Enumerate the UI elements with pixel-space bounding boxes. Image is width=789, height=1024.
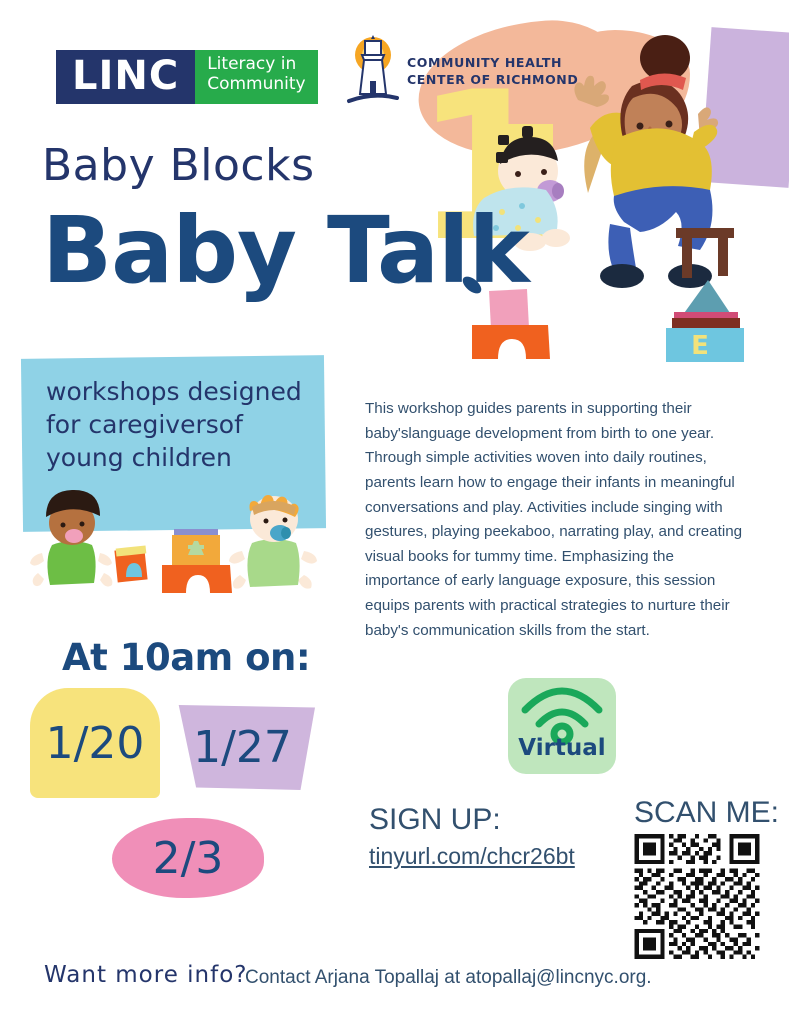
block-small [114, 545, 147, 582]
baby-right-figure [229, 495, 317, 589]
virtual-badge-label: Virtual [508, 735, 616, 761]
sign-up-label: SIGN UP: [369, 803, 501, 837]
page-title: Baby Talk [42, 205, 529, 297]
sign-up-link[interactable]: tinyurl.com/chcr26bt [369, 843, 575, 870]
qr-code-icon[interactable] [629, 834, 765, 959]
babies-illustration [28, 485, 328, 595]
audience-line-1: workshops designed [46, 375, 346, 408]
date-chip-2[interactable]: 1/27 [170, 705, 315, 790]
svg-text:E: E [691, 331, 709, 361]
linc-logo: LINC Literacy in Community [56, 50, 318, 104]
audience-box-text: workshops designed for caregiversof youn… [46, 375, 346, 474]
linc-tagline: Literacy in Community [195, 50, 317, 104]
block-stack [162, 529, 232, 593]
linc-tagline-line1: Literacy in [207, 54, 305, 74]
audience-line-3: young children [46, 441, 346, 474]
toy-blocks-right: E [660, 278, 770, 363]
linc-wordmark: LINC [56, 50, 195, 104]
flyer-poster: 1 LINC Literacy in Community COMMUNITY H… [0, 0, 789, 1024]
time-label: At 10am on: [62, 636, 310, 679]
audience-line-2: for caregiversof [46, 408, 346, 441]
footer-contact: Contact Arjana Topallaj at atopallaj@lin… [245, 967, 652, 989]
adult-figure [574, 35, 734, 288]
date-chip-3[interactable]: 2/3 [112, 818, 264, 898]
series-heading: Baby Blocks [42, 140, 315, 191]
footer-question: Want more info? [44, 962, 248, 988]
date-chip-1[interactable]: 1/20 [30, 688, 160, 798]
scan-me-label: SCAN ME: [634, 796, 779, 830]
lighthouse-icon [345, 33, 401, 111]
baby-left-figure [30, 490, 112, 587]
description-paragraph: This workshop guides parents in supporti… [365, 397, 747, 643]
linc-tagline-line2: Community [207, 74, 305, 94]
